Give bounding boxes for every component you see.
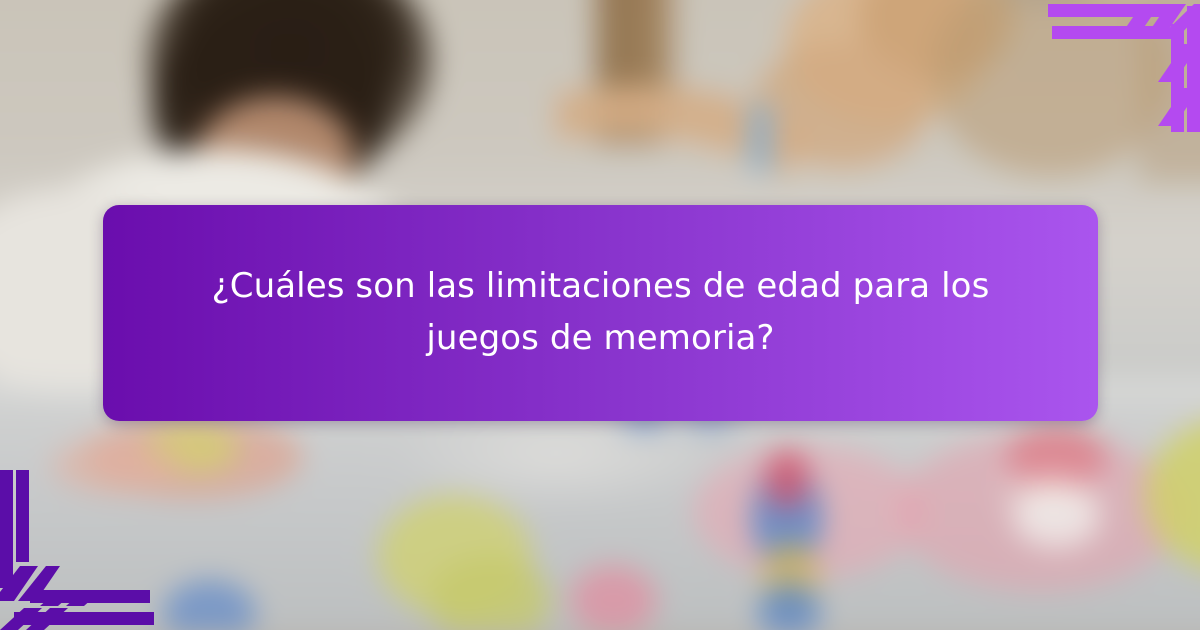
- social-card: ¿Cuáles son las limitaciones de edad par…: [0, 0, 1200, 630]
- page-title: ¿Cuáles son las limitaciones de edad par…: [206, 261, 996, 364]
- title-banner: ¿Cuáles son las limitaciones de edad par…: [103, 205, 1098, 421]
